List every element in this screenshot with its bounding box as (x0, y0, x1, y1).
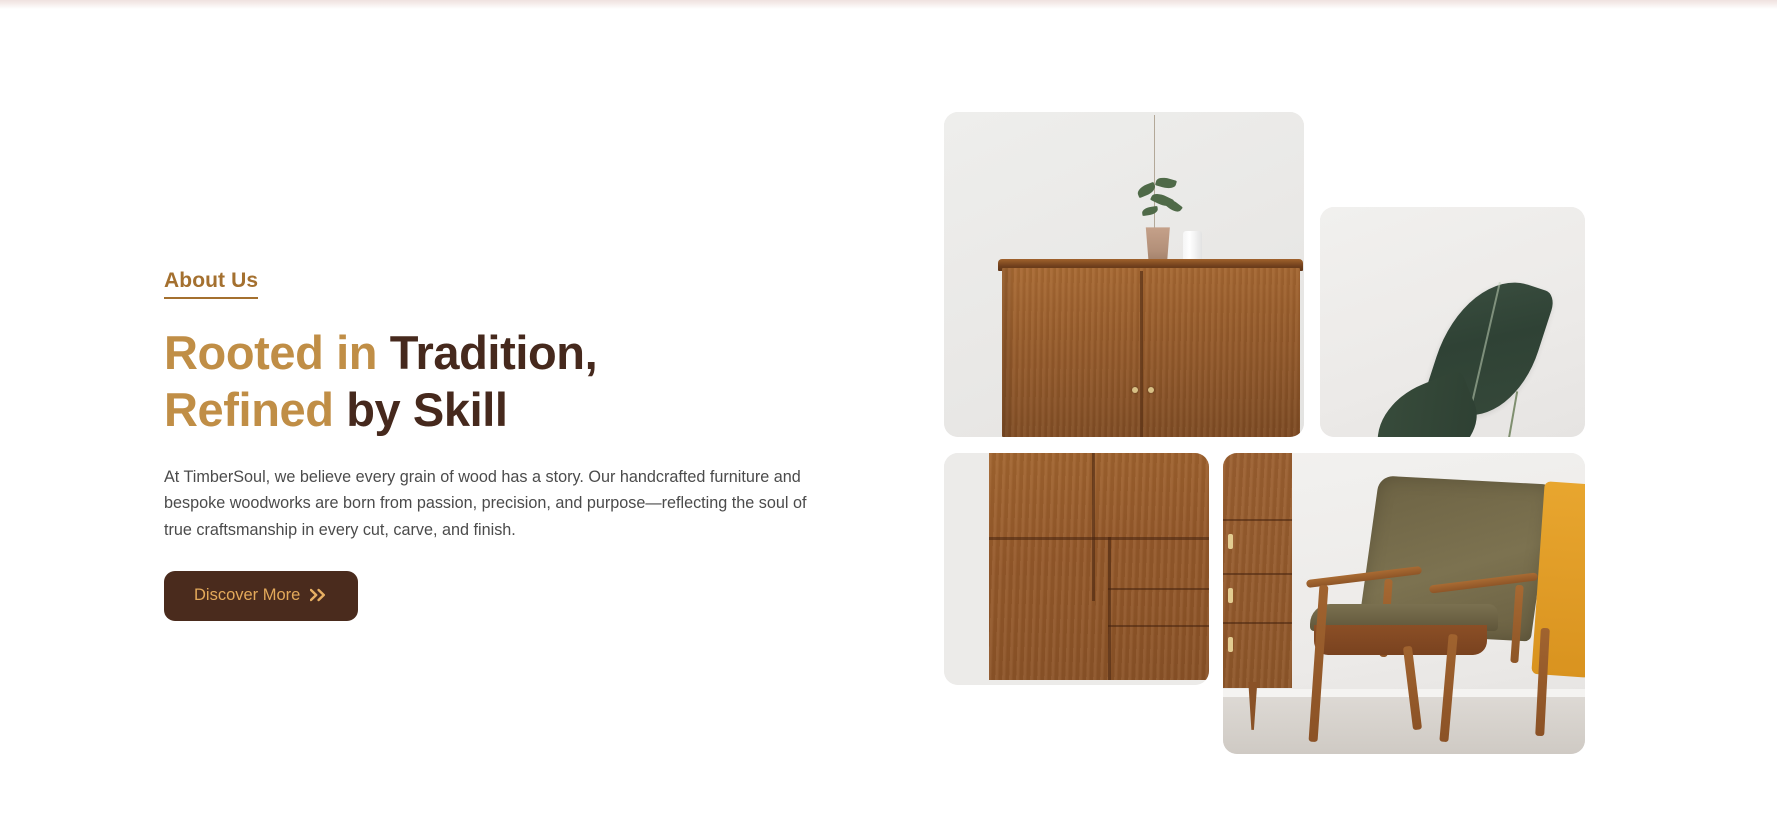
gallery-image-cabinet-drawers[interactable] (944, 453, 1209, 685)
page-title: Rooted in Tradition, Refined by Skill (164, 325, 854, 439)
headline-line2-dark: by Skill (346, 383, 507, 436)
section-eyebrow-about-us[interactable]: About Us (164, 268, 258, 299)
photo-banana-leaf (1320, 207, 1585, 437)
headline-line1-dark: Tradition, (390, 326, 598, 379)
gallery-image-cabinet-with-plant[interactable] (944, 112, 1304, 437)
photo-cabinet-with-plant (944, 112, 1304, 437)
headline-line1-accent: Rooted in (164, 326, 390, 379)
about-image-gallery (944, 112, 1585, 744)
about-section: About Us Rooted in Tradition, Refined by… (0, 0, 1777, 813)
discover-more-button[interactable]: Discover More (164, 571, 358, 621)
about-paragraph: At TimberSoul, we believe every grain of… (164, 464, 836, 543)
about-text-column: About Us Rooted in Tradition, Refined by… (164, 268, 854, 621)
photo-cabinet-drawers (944, 453, 1209, 685)
gallery-image-banana-leaf[interactable] (1320, 207, 1585, 437)
gallery-image-lounge-armchair[interactable] (1223, 453, 1585, 754)
discover-more-label: Discover More (194, 587, 300, 604)
photo-lounge-armchair (1223, 453, 1585, 754)
headline-line2-accent: Refined (164, 383, 346, 436)
double-chevron-right-icon (310, 588, 328, 601)
